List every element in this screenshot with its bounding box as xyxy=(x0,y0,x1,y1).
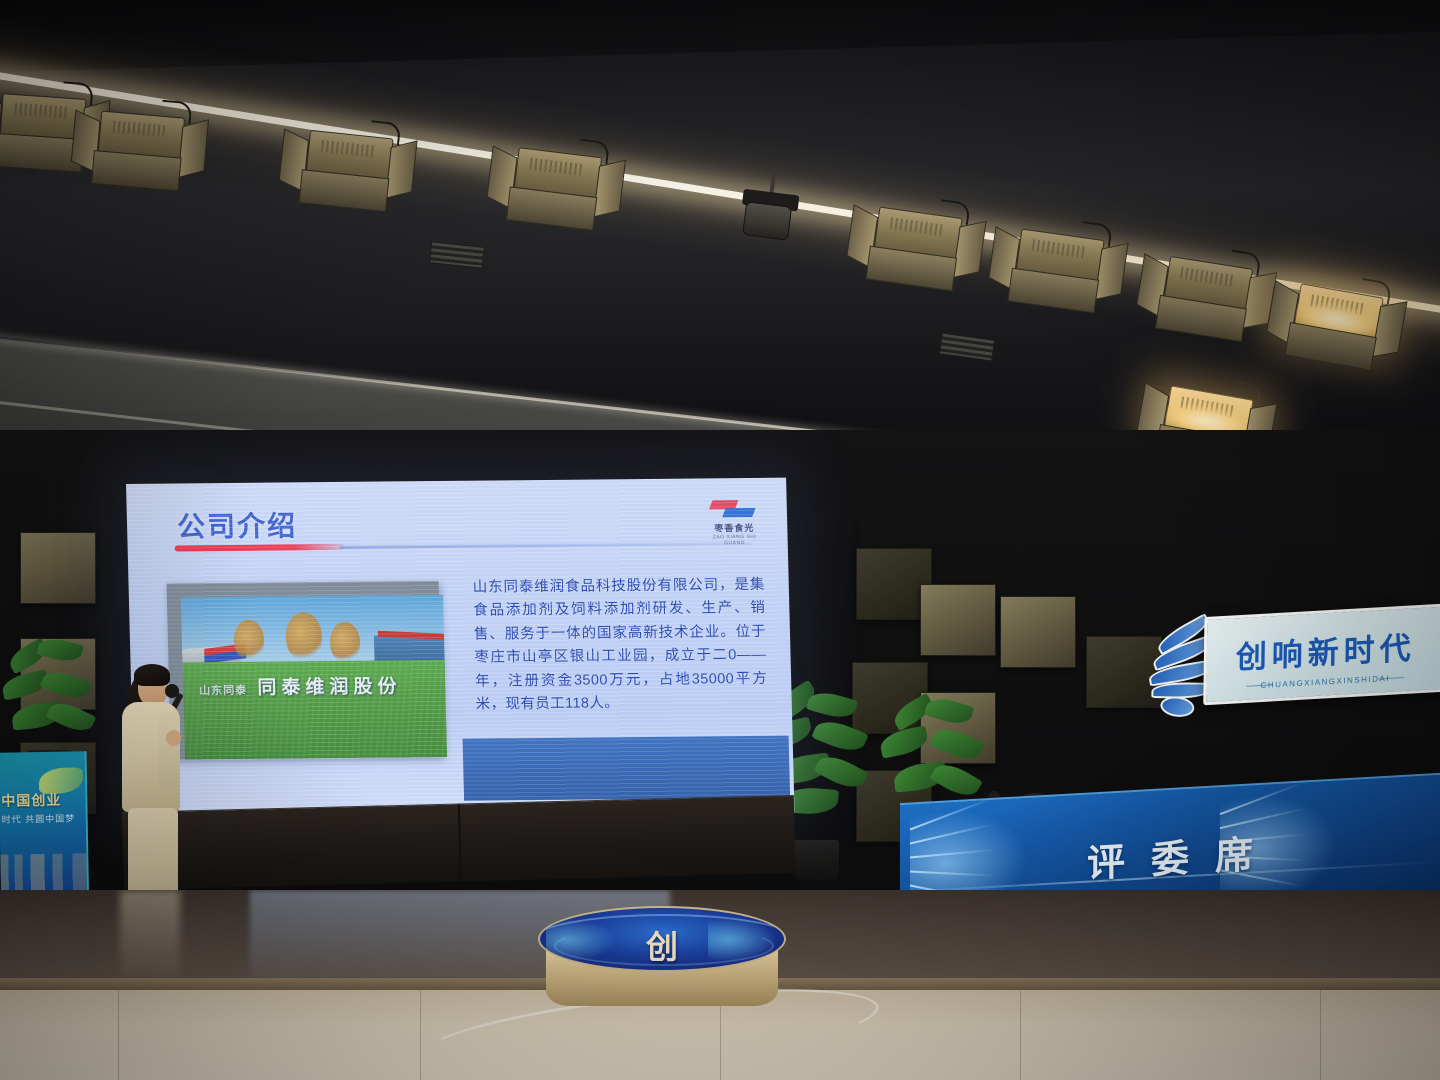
stage-light-fixture xyxy=(863,206,968,293)
standee-line-2: 时代 共圆中国梦 xyxy=(2,811,84,825)
tile-seam xyxy=(1020,990,1021,1080)
fresnel-lens xyxy=(742,201,792,240)
standee-line-1: 中国创业 xyxy=(1,789,83,810)
ceiling xyxy=(0,0,1440,470)
photo-tree xyxy=(233,619,264,659)
barn-door-right xyxy=(593,160,626,218)
floor-presenter-reflection xyxy=(120,890,180,978)
light-vent xyxy=(1180,267,1233,287)
ceiling-vent-grate xyxy=(429,241,485,269)
stage-scene: 公司介绍 枣香食光 ZAO XIANG SHI GUANG xyxy=(0,0,1440,1080)
ceiling-vent-grate xyxy=(939,332,996,361)
company-logo: 枣香食光 ZAO XIANG SHI GUANG xyxy=(703,498,766,553)
photo-signage-main: 同泰维润股份 xyxy=(257,676,402,698)
fresnel-spotlight xyxy=(737,189,800,255)
presenter-hair-top xyxy=(134,664,170,686)
slide-title: 公司介绍 xyxy=(177,504,298,545)
tile-seam xyxy=(118,990,119,1080)
logo-wordmark: 枣香食光 xyxy=(703,521,765,535)
tile-seam xyxy=(1320,990,1321,1080)
tile-seam xyxy=(420,990,421,1080)
light-vent xyxy=(14,103,67,119)
barn-door-right xyxy=(178,119,209,178)
slide-body-text: 山东同泰维润食品科技股份有限公司，是集食品添加剂及饲料添加剂研发、生产、销售、服… xyxy=(472,574,768,718)
stage-light-fixture xyxy=(296,129,399,213)
presentation-slide: 公司介绍 枣香食光 ZAO XIANG SHI GUANG xyxy=(126,478,795,819)
led-screen: 公司介绍 枣香食光 ZAO XIANG SHI GUANG xyxy=(126,478,795,819)
slide-photo-frame: 山东同泰 同泰维润股份 xyxy=(167,581,443,760)
slide-blue-band xyxy=(463,736,791,801)
plant-pot xyxy=(793,840,839,880)
presenter-hand xyxy=(166,730,181,746)
fresnel-stem xyxy=(769,170,776,194)
banner-plate: 创响新时代 CHUANGXIANGXINSHIDAI xyxy=(1203,603,1440,705)
ceiling-upper-slab xyxy=(0,0,1440,72)
slide-title-underline xyxy=(175,544,345,552)
acoustic-panel xyxy=(1000,596,1076,668)
stage-light-fixture xyxy=(89,110,191,192)
stage-podium: 创 xyxy=(538,906,786,1010)
slide-title-rule-secondary xyxy=(340,542,752,549)
stage-light-fixture xyxy=(504,146,608,231)
acoustic-panel xyxy=(20,532,96,604)
stage-light-fixture xyxy=(1005,228,1110,315)
light-vent xyxy=(321,140,374,157)
slide-photo: 山东同泰 同泰维润股份 xyxy=(181,595,447,759)
photo-tree xyxy=(285,612,322,660)
acoustic-panel xyxy=(920,584,996,656)
light-vent xyxy=(529,158,582,176)
photo-tree xyxy=(330,622,361,662)
barn-door-right xyxy=(385,140,417,198)
presenter-arm xyxy=(158,712,180,790)
stage-light-fixture xyxy=(1153,255,1259,343)
plant-leaf xyxy=(36,635,84,665)
podium-logo-glyph: 创 xyxy=(540,922,784,968)
logo-pinyin: ZAO XIANG SHI GUANG xyxy=(703,534,765,547)
light-vent xyxy=(1032,239,1085,258)
banner-title: 创响新时代 xyxy=(1207,621,1440,679)
plant-leaf xyxy=(811,715,868,757)
light-vent xyxy=(890,217,943,236)
photo-signage-small: 山东同泰 xyxy=(199,685,247,697)
logo-blue-stripe xyxy=(722,508,755,517)
light-vent xyxy=(113,121,166,137)
logo-mark-icon xyxy=(711,498,758,518)
photo-signage-text: 山东同泰 同泰维润股份 xyxy=(199,671,440,700)
stage-light-fixture-lit xyxy=(1282,282,1389,372)
plant-leaf xyxy=(40,666,93,703)
barn-door-bottom xyxy=(91,150,182,192)
podium-top-disc: 创 xyxy=(538,906,786,972)
